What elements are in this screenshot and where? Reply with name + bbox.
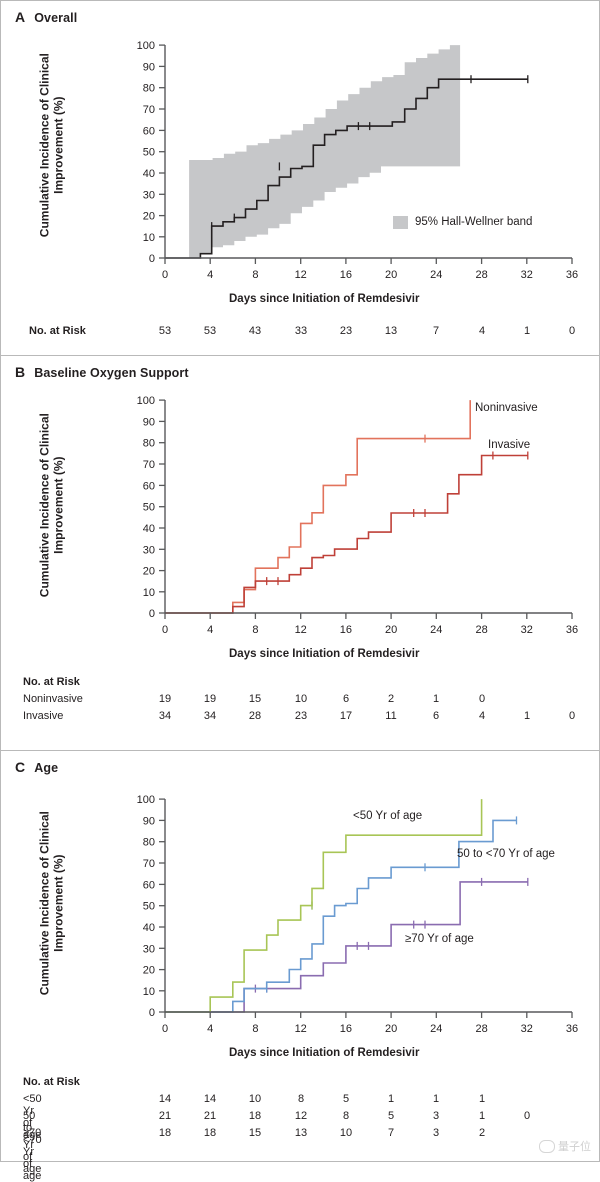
risk-row-label: ≥70 Yr of age [23,1127,41,1175]
svg-text:60: 60 [143,480,155,492]
svg-text:70: 70 [143,104,155,116]
risk-value: 17 [333,710,359,722]
panel-c-y-ticks [159,799,165,1012]
risk-value: 1 [423,693,449,705]
svg-text:50: 50 [143,147,155,159]
svg-text:90: 90 [143,815,155,827]
svg-text:16: 16 [340,1023,352,1035]
svg-text:4: 4 [207,624,213,636]
svg-text:12: 12 [295,1023,307,1035]
panel-b-y-ticks [159,400,165,613]
risk-value: 8 [288,1093,314,1105]
risk-value: 3 [423,1110,449,1122]
watermark: 量子位 [539,1138,591,1154]
svg-text:24: 24 [430,624,442,636]
age-50to70-censor-marks [267,816,517,992]
svg-text:20: 20 [143,566,155,578]
svg-text:4: 4 [207,269,213,281]
svg-text:90: 90 [143,61,155,73]
svg-text:20: 20 [143,965,155,977]
risk-value: 5 [333,1093,359,1105]
svg-text:20: 20 [385,624,397,636]
svg-text:80: 80 [143,438,155,450]
svg-text:30: 30 [143,544,155,556]
age-under50-curve [165,799,482,1012]
risk-value: 10 [242,1093,268,1105]
panel-c: CAge Cumulative Incidence of Clinical Im… [1,751,599,1160]
panel-b: BBaseline Oxygen Support Cumulative Inci… [1,356,599,751]
svg-text:70: 70 [143,858,155,870]
svg-text:0: 0 [149,608,155,620]
svg-text:28: 28 [475,269,487,281]
curve-label-invasive: Invasive [488,439,530,451]
svg-text:100: 100 [137,40,155,52]
svg-text:36: 36 [566,269,578,281]
risk-value: 4 [469,710,495,722]
risk-value: 0 [469,693,495,705]
panel-a-y-tick-labels: 1009080 706050 403020 100 [137,40,155,265]
invasive-censor-marks [267,452,528,586]
panel-c-x-axis-label: Days since Initiation of Remdesivir [229,1047,419,1059]
svg-text:28: 28 [475,1023,487,1035]
panel-a-risk-title: No. at Risk [29,325,86,337]
svg-text:28: 28 [475,624,487,636]
risk-value: 5 [378,1110,404,1122]
risk-value: 14 [152,1093,178,1105]
risk-value: 18 [152,1127,178,1139]
watermark-text: 量子位 [558,1138,591,1154]
risk-value: 12 [288,1110,314,1122]
panel-a-svg: 1009080 706050 403020 100 048 121620 [1,1,600,301]
svg-text:80: 80 [143,83,155,95]
risk-value: 1 [469,1110,495,1122]
panel-a-x-axis-label: Days since Initiation of Remdesivir [229,293,419,305]
panel-c-svg: 1009080 706050 403020 100 048 121620 [1,755,600,1055]
figure-container: AOverall Cumulative Incidence of Clinica… [0,0,600,1162]
risk-value: 2 [378,693,404,705]
svg-text:12: 12 [295,624,307,636]
svg-text:12: 12 [295,269,307,281]
panel-c-plot: 1009080 706050 403020 100 048 121620 [1,755,600,1055]
risk-value: 10 [333,1127,359,1139]
risk-value: 0 [559,710,585,722]
svg-text:10: 10 [143,232,155,244]
panel-c-risk-title: No. at Risk [23,1076,80,1088]
risk-value: 4 [469,325,495,337]
svg-text:30: 30 [143,943,155,955]
svg-text:8: 8 [252,624,258,636]
panel-a: AOverall Cumulative Incidence of Clinica… [1,1,599,356]
svg-text:20: 20 [143,211,155,223]
risk-value: 18 [197,1127,223,1139]
risk-value: 43 [242,325,268,337]
risk-value: 1 [378,1093,404,1105]
svg-text:20: 20 [385,269,397,281]
svg-text:16: 16 [340,269,352,281]
risk-value: 21 [197,1110,223,1122]
risk-value: 6 [423,710,449,722]
risk-value: 0 [514,1110,540,1122]
panel-b-y-tick-labels: 1009080 706050 403020 100 [137,395,155,620]
svg-text:40: 40 [143,523,155,535]
panel-a-plot: 1009080 706050 403020 100 048 121620 [1,1,600,301]
risk-value: 6 [333,693,359,705]
panel-c-x-tick-labels: 048 121620 242832 36 [162,1023,578,1035]
curve-label-50-to-70: 50 to <70 Yr of age [457,848,555,860]
risk-value: 34 [152,710,178,722]
risk-value: 53 [152,325,178,337]
panel-b-svg: 1009080 706050 403020 100 048 121620 [1,356,600,656]
risk-value: 23 [288,710,314,722]
risk-value: 1 [514,710,540,722]
svg-text:8: 8 [252,1023,258,1035]
risk-value: 7 [378,1127,404,1139]
panel-b-x-ticks [165,613,572,619]
panel-c-x-ticks [165,1012,572,1018]
panel-a-x-ticks [165,258,572,264]
svg-text:100: 100 [137,794,155,806]
svg-text:24: 24 [430,269,442,281]
risk-value: 1 [423,1093,449,1105]
svg-text:0: 0 [162,624,168,636]
risk-value: 18 [242,1110,268,1122]
risk-value: 3 [423,1127,449,1139]
risk-value: 2 [469,1127,495,1139]
svg-text:60: 60 [143,879,155,891]
svg-text:16: 16 [340,624,352,636]
risk-value: 14 [197,1093,223,1105]
risk-value: 15 [242,693,268,705]
svg-text:32: 32 [521,624,533,636]
panel-b-risk-title: No. at Risk [23,676,80,688]
noninvasive-curve [165,400,470,613]
svg-text:0: 0 [149,253,155,265]
svg-text:70: 70 [143,459,155,471]
svg-text:0: 0 [149,1007,155,1019]
svg-text:50: 50 [143,502,155,514]
risk-value: 21 [152,1110,178,1122]
risk-value: 19 [152,693,178,705]
risk-value: 19 [197,693,223,705]
risk-row-label: Invasive [23,710,63,722]
legend-swatch [393,216,408,229]
svg-text:36: 36 [566,1023,578,1035]
risk-value: 15 [242,1127,268,1139]
svg-text:36: 36 [566,624,578,636]
watermark-bubble-icon [539,1140,555,1153]
risk-value: 33 [288,325,314,337]
risk-value: 23 [333,325,359,337]
panel-b-plot: 1009080 706050 403020 100 048 121620 [1,356,600,656]
svg-text:40: 40 [143,168,155,180]
svg-text:10: 10 [143,587,155,599]
panel-b-x-tick-labels: 048 121620 242832 36 [162,624,578,636]
risk-value: 53 [197,325,223,337]
risk-value: 11 [378,710,404,722]
curve-label-70-plus: ≥70 Yr of age [405,933,474,945]
svg-text:4: 4 [207,1023,213,1035]
risk-value: 34 [197,710,223,722]
svg-text:10: 10 [143,986,155,998]
legend-label: 95% Hall-Wellner band [415,216,532,228]
risk-value: 1 [469,1093,495,1105]
svg-text:60: 60 [143,125,155,137]
svg-text:24: 24 [430,1023,442,1035]
curve-label-noninvasive: Noninvasive [475,402,538,414]
risk-value: 7 [423,325,449,337]
svg-text:32: 32 [521,269,533,281]
panel-a-x-tick-labels: 048 121620 242832 36 [162,269,578,281]
panel-c-y-tick-labels: 1009080 706050 403020 100 [137,794,155,1019]
panel-b-x-axis-label: Days since Initiation of Remdesivir [229,648,419,660]
risk-value: 8 [333,1110,359,1122]
risk-value: 13 [288,1127,314,1139]
risk-row-label: Noninvasive [23,693,83,705]
svg-text:20: 20 [385,1023,397,1035]
risk-value: 0 [559,325,585,337]
risk-value: 28 [242,710,268,722]
svg-text:32: 32 [521,1023,533,1035]
svg-text:50: 50 [143,901,155,913]
svg-text:0: 0 [162,1023,168,1035]
svg-text:8: 8 [252,269,258,281]
panel-a-y-ticks [159,45,165,258]
risk-value: 13 [378,325,404,337]
svg-text:90: 90 [143,416,155,428]
svg-text:80: 80 [143,837,155,849]
curve-label-under-50: <50 Yr of age [353,810,422,822]
svg-text:100: 100 [137,395,155,407]
risk-value: 10 [288,693,314,705]
svg-text:40: 40 [143,922,155,934]
age-70plus-curve [165,882,528,1012]
risk-value: 1 [514,325,540,337]
svg-text:30: 30 [143,189,155,201]
svg-text:0: 0 [162,269,168,281]
